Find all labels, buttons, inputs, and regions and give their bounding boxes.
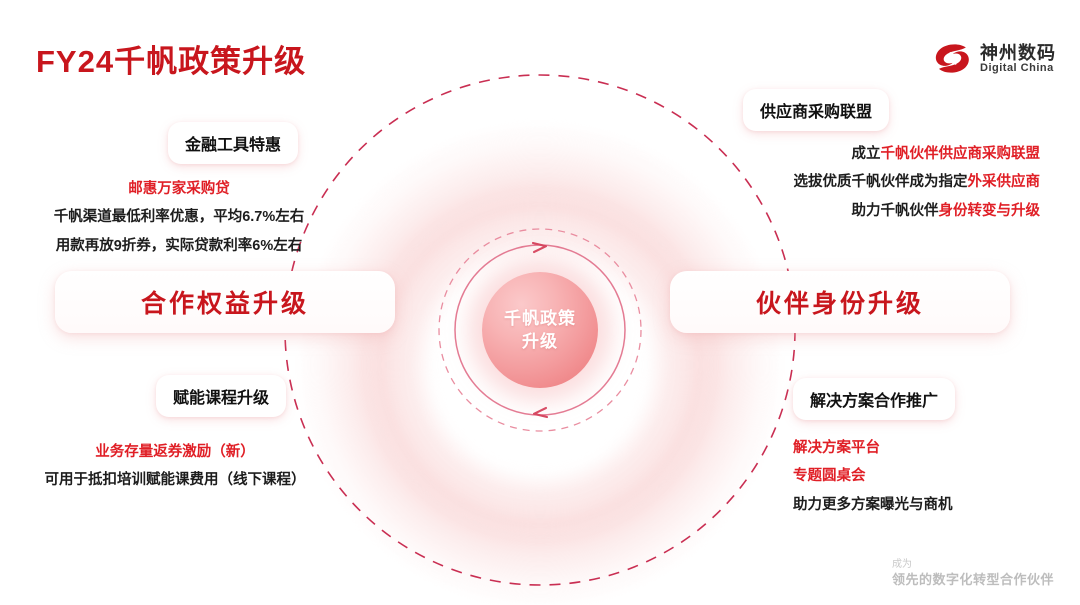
detail-text-segment: 专题圆桌会 (793, 468, 866, 484)
detail-text-segment: 解决方案平台 (793, 440, 880, 456)
detail-lead-training: 业务存量返券激励（新） (10, 438, 340, 466)
detail-text-segment: 成立 (852, 146, 881, 162)
detail-line: 助力更多方案曝光与商机 (793, 491, 1080, 519)
core-line-2: 升级 (522, 333, 558, 350)
chip-supplier-alliance[interactable]: 供应商采购联盟 (743, 89, 889, 131)
detail-text-segment: 助力千帆伙伴 (852, 203, 939, 219)
detail-text-segment: 外采供应商 (968, 174, 1041, 190)
detail-lead-financial: 邮惠万家采购贷 (14, 175, 344, 203)
page-title: FY24千帆政策升级 (36, 36, 306, 81)
branch-card-left[interactable]: 合作权益升级 (55, 271, 395, 333)
brand-text: 神州数码 Digital China (980, 44, 1056, 74)
branch-card-right[interactable]: 伙伴身份升级 (670, 271, 1010, 333)
detail-line: 解决方案平台 (793, 434, 1080, 462)
detail-line-financial-2: 用款再放9折券，实际贷款利率6%左右 (14, 232, 344, 260)
detail-block-training-courses: 业务存量返券激励（新） 可用于抵扣培训赋能课费用（线下课程） (10, 438, 340, 495)
detail-text-segment: 选拔优质千帆伙伴成为指定 (794, 174, 968, 190)
detail-line-financial-1: 千帆渠道最低利率优惠，平均6.7%左右 (14, 203, 344, 231)
chip-training-courses[interactable]: 赋能课程升级 (156, 375, 286, 417)
detail-block-supplier-alliance: 成立千帆伙伴供应商采购联盟选拔优质千帆伙伴成为指定外采供应商助力千帆伙伴身份转变… (620, 140, 1040, 225)
brand-name-en: Digital China (980, 63, 1056, 75)
center-core-circle: 千帆政策 升级 (482, 272, 598, 388)
branch-card-left-label: 合作权益升级 (141, 284, 309, 320)
detail-text-segment: 助力更多方案曝光与商机 (793, 497, 953, 513)
detail-text-segment: 身份转变与升级 (939, 203, 1041, 219)
detail-block-solution-promotion: 解决方案平台专题圆桌会助力更多方案曝光与商机 (793, 434, 1080, 519)
brand-name-cn: 神州数码 (980, 44, 1056, 63)
chip-financial-tools[interactable]: 金融工具特惠 (168, 122, 298, 164)
chip-solution-promotion[interactable]: 解决方案合作推广 (793, 378, 955, 420)
footer-main-text: 领先的数字化转型合作伙伴 (892, 571, 1054, 589)
core-line-1: 千帆政策 (504, 310, 576, 327)
branch-card-right-label: 伙伴身份升级 (756, 284, 924, 320)
footer-small-text: 成为 (892, 558, 1054, 572)
slide-canvas: FY24千帆政策升级 神州数码 Digital China 千帆政策 升级 金融… (0, 0, 1080, 605)
detail-line: 选拔优质千帆伙伴成为指定外采供应商 (620, 168, 1040, 196)
detail-line: 助力千帆伙伴身份转变与升级 (620, 197, 1040, 225)
footer-tagline: 成为 领先的数字化转型合作伙伴 (892, 558, 1054, 589)
digital-china-swirl-icon (933, 42, 971, 76)
brand-logo: 神州数码 Digital China (933, 42, 1056, 76)
detail-line-training-1: 可用于抵扣培训赋能课费用（线下课程） (10, 466, 340, 494)
detail-text-segment: 千帆伙伴供应商采购联盟 (881, 146, 1041, 162)
detail-block-financial-tools: 邮惠万家采购贷 千帆渠道最低利率优惠，平均6.7%左右 用款再放9折券，实际贷款… (14, 175, 344, 260)
detail-line: 成立千帆伙伴供应商采购联盟 (620, 140, 1040, 168)
detail-line: 专题圆桌会 (793, 462, 1080, 490)
